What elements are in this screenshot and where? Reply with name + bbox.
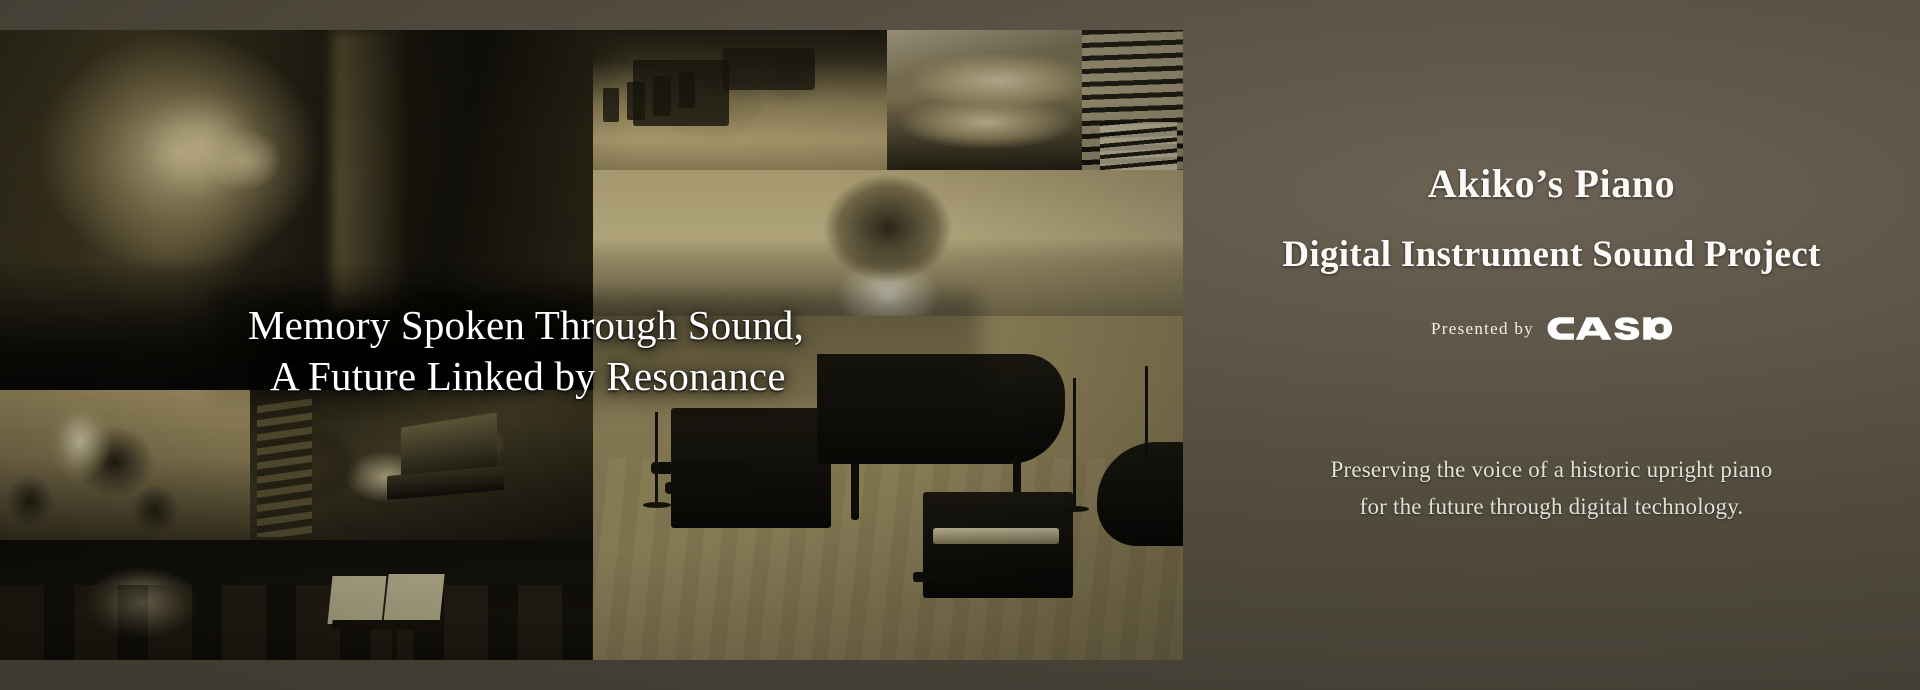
title-block: Akiko’s Piano Digital Instrument Sound P… — [1183, 160, 1920, 276]
recording-console-hands-image — [250, 390, 593, 540]
headline: Memory Spoken Through Sound, A Future Li… — [248, 300, 948, 403]
headline-line-1: Memory Spoken Through Sound, — [248, 300, 948, 351]
collage-photo-workshop-piano-tuning — [0, 390, 250, 540]
casio-logo — [1547, 316, 1672, 341]
page-title: Akiko’s Piano — [1183, 160, 1920, 207]
auditorium-seats-texture — [0, 585, 593, 660]
presented-by-row: Presented by — [1431, 316, 1672, 341]
akikos-piano-banner: Memory Spoken Through Sound, A Future Li… — [0, 0, 1920, 690]
portrait-musician-image — [593, 170, 1183, 316]
description-line-2: for the future through digital technolog… — [1330, 488, 1772, 525]
right-panel: Akiko’s Piano Digital Instrument Sound P… — [1183, 0, 1920, 690]
collage-photo-concert-hall-upright-trio — [593, 30, 887, 170]
collage-photo-hands-on-piano-keys — [887, 30, 1183, 170]
concert-hall-upright-trio-image — [593, 30, 887, 170]
collage-photo-portrait-musician — [593, 170, 1183, 316]
collage-photo-recording-console-hands — [250, 390, 593, 540]
presented-by-label: Presented by — [1431, 319, 1534, 339]
page-subtitle: Digital Instrument Sound Project — [1183, 233, 1920, 276]
piano-keys-texture-lower — [1100, 122, 1177, 170]
description-line-1: Preserving the voice of a historic uprig… — [1330, 457, 1772, 482]
collage-photo-woman-in-auditorium — [0, 540, 593, 660]
woman-in-auditorium-image — [0, 540, 593, 660]
workshop-piano-tuning-image — [0, 390, 250, 540]
project-description: Preserving the voice of a historic uprig… — [1330, 451, 1772, 526]
striped-shirt-texture — [257, 399, 312, 537]
hands-on-piano-keys-image — [887, 30, 1183, 170]
headline-line-2: A Future Linked by Resonance — [248, 351, 948, 402]
